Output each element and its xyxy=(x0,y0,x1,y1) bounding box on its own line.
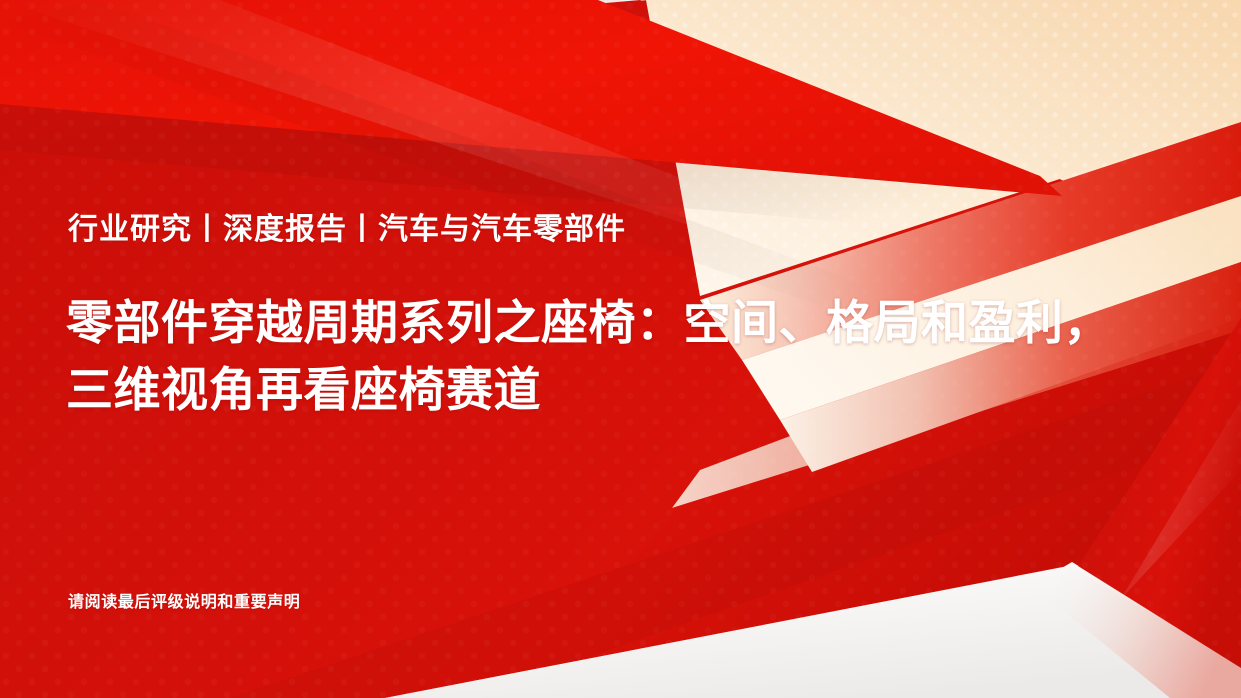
background-artwork xyxy=(0,0,1241,698)
background-svg xyxy=(0,0,1241,698)
report-cover-slide: 行业研究丨深度报告丨汽车与汽车零部件 零部件穿越周期系列之座椅：空间、格局和盈利… xyxy=(0,0,1241,698)
